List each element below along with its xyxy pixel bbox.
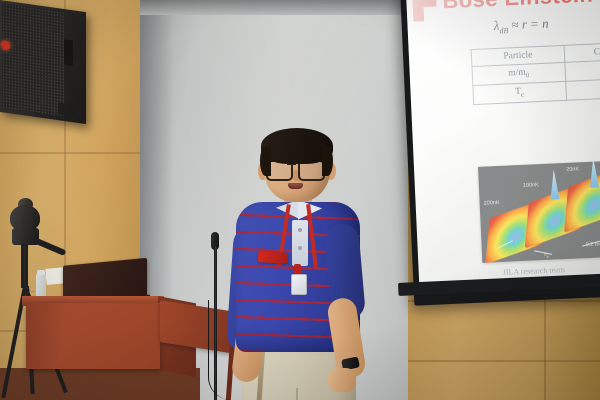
bec-temp-label-1: 100nK — [523, 182, 539, 189]
presenter-person — [236, 130, 366, 400]
presenter-right-hand — [328, 368, 356, 392]
shirt-button — [298, 228, 302, 232]
presenter-hair-side-right — [322, 146, 333, 176]
trouser-seam — [296, 388, 298, 400]
table-cell-mass-value: 10 — [565, 59, 600, 82]
slide-bullet-icon — [412, 0, 437, 22]
red-name-tag — [258, 251, 289, 264]
table-cell-tc: Tc — [473, 81, 567, 104]
bec-temp-label-2: 20nK — [566, 166, 579, 173]
slide-formula: λdB ≈ r = n — [493, 16, 549, 36]
formula-subscript: dB — [499, 26, 508, 35]
presenter-hair-side-left — [260, 146, 271, 176]
shirt-button — [298, 246, 302, 250]
speaker-grille — [2, 3, 64, 116]
bec-velocity-distribution-figure: 200nK 100nK 20nK vy vx 0.2 mm — [478, 160, 600, 262]
formula-remainder: ≈ r = n — [511, 16, 549, 33]
table-cell-tc-value: 1nK — [566, 77, 600, 100]
speaker-power-led-icon — [1, 40, 10, 50]
water-bottle-cap — [37, 270, 45, 275]
bec-axis-arrow-vx — [534, 250, 552, 255]
projection-screen-surface: Bose Einstein λdB ≈ r = n Particle Cold … — [406, 0, 600, 292]
wooden-lectern — [26, 303, 160, 369]
shirt-placket — [292, 220, 308, 266]
ceiling-band — [140, 0, 416, 15]
speaker-port — [64, 39, 73, 66]
slide-title: Bose Einstein — [442, 0, 594, 14]
table-header-cold: Cold a — [564, 42, 600, 63]
slide-table: Particle Cold a m/m0 10 Tc 1nK — [471, 41, 600, 105]
bec-scale-label: 0.2 mm — [586, 241, 600, 248]
tripod-cable — [24, 246, 35, 292]
id-badge — [291, 274, 307, 295]
presenter-mouth — [288, 183, 303, 189]
lecture-room-photo: Bose Einstein λdB ≈ r = n Particle Cold … — [0, 0, 600, 400]
bec-axis-label-vy: vy — [498, 246, 503, 253]
bec-axis-label-vx: vx — [544, 252, 549, 259]
bec-temp-label-0: 200nK — [484, 200, 500, 207]
